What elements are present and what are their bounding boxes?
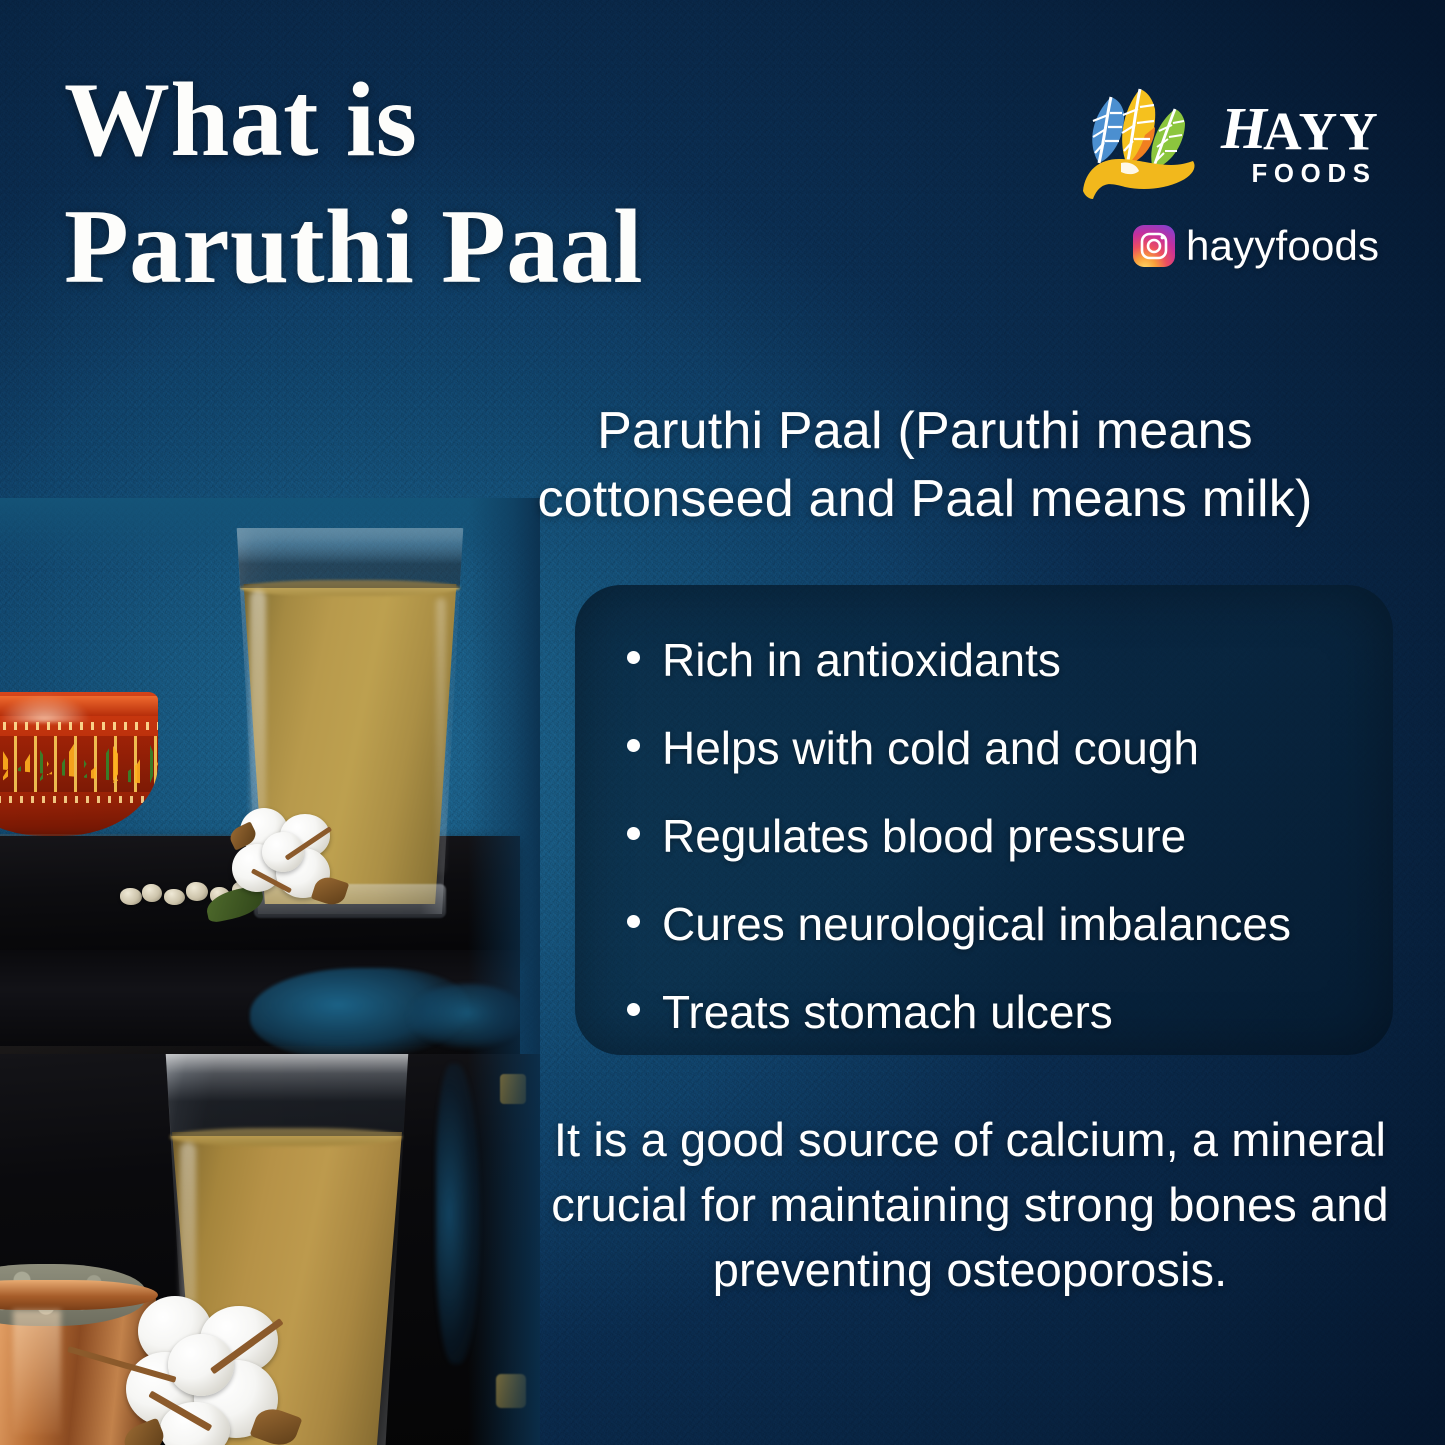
list-item-label: Regulates blood pressure	[662, 813, 1186, 859]
brand-logo-row: H AYY FOODS	[1077, 76, 1387, 208]
brand-block: H AYY FOODS	[1077, 76, 1387, 270]
instagram-icon[interactable]	[1133, 225, 1175, 267]
box-hinge-lower	[496, 1374, 526, 1408]
painted-red-clay-bowl	[0, 692, 158, 836]
list-item-label: Cures neurological imbalances	[662, 901, 1291, 947]
cotton-boll-lower	[120, 1290, 316, 1445]
instagram-handle-label: hayyfoods	[1186, 222, 1379, 270]
reflection-splash-secondary	[408, 984, 528, 1048]
brand-wordmark: H AYY FOODS	[1219, 94, 1391, 190]
bullet-icon	[627, 739, 640, 752]
cotton-boll-upper	[228, 804, 356, 916]
list-item: Helps with cold and cough	[627, 725, 1365, 771]
poster-canvas: What is Paruthi Paal	[0, 0, 1445, 1445]
list-item: Regulates blood pressure	[627, 813, 1365, 859]
page-title: What is Paruthi Paal	[64, 56, 643, 310]
bullet-icon	[627, 651, 640, 664]
list-item: Rich in antioxidants	[627, 637, 1365, 683]
wordmark-ayy: AYY	[1263, 102, 1380, 162]
benefits-card: Rich in antioxidants Helps with cold and…	[575, 585, 1393, 1055]
product-photo	[0, 498, 540, 1445]
subtitle: Paruthi Paal (Paruthi means cottonseed a…	[470, 398, 1380, 533]
list-item: Cures neurological imbalances	[627, 901, 1365, 947]
list-item-label: Helps with cold and cough	[662, 725, 1199, 771]
instagram-handle-row[interactable]: hayyfoods	[1077, 222, 1387, 270]
bullet-icon	[627, 827, 640, 840]
list-item-label: Rich in antioxidants	[662, 637, 1061, 683]
closing-paragraph: It is a good source of calcium, a minera…	[540, 1108, 1400, 1303]
list-item-label: Treats stomach ulcers	[662, 989, 1113, 1035]
wordmark-h: H	[1220, 98, 1269, 161]
benefits-list: Rich in antioxidants Helps with cold and…	[627, 637, 1365, 1035]
list-item: Treats stomach ulcers	[627, 989, 1365, 1035]
leaves-in-hand-logo-icon	[1077, 79, 1205, 205]
box-hinge-upper	[500, 1074, 526, 1104]
bullet-icon	[627, 1003, 640, 1016]
bullet-icon	[627, 915, 640, 928]
wordmark-foods: FOODS	[1251, 160, 1376, 188]
